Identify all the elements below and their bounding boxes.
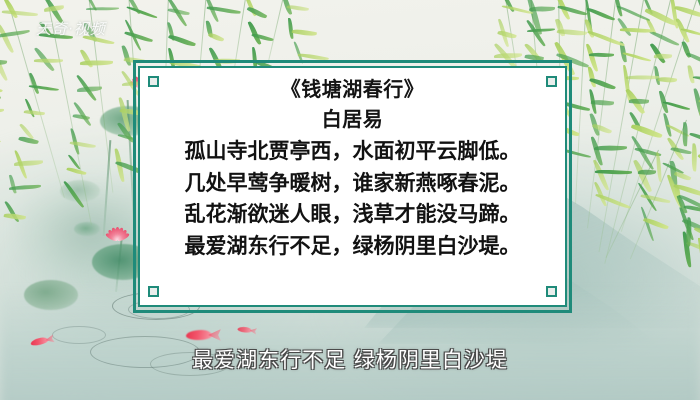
willow-leaf-icon xyxy=(43,5,64,11)
willow-leaf-icon xyxy=(556,0,571,21)
lotus-pad-icon xyxy=(60,180,100,202)
willow-leaf-icon xyxy=(288,18,293,39)
lotus-petal xyxy=(115,227,124,241)
willow-leaf-icon xyxy=(0,23,14,54)
willow-leaf-icon xyxy=(244,0,256,17)
willow-leaf-icon xyxy=(685,217,692,246)
lotus-petal xyxy=(115,227,120,240)
willow-leaf-icon xyxy=(658,76,677,84)
willow-leaf-icon xyxy=(585,19,595,39)
willow-leaf-icon xyxy=(631,122,663,139)
willow-leaf-icon xyxy=(557,4,587,17)
poem-line: 乱花渐欲迷人眼，浅草才能没马蹄。 xyxy=(185,202,521,228)
willow-leaf-icon xyxy=(643,217,669,231)
lotus-pad-icon xyxy=(24,280,78,310)
willow-leaf-icon xyxy=(694,226,700,248)
willow-leaf-icon xyxy=(592,159,609,192)
willow-leaf-icon xyxy=(70,128,80,156)
willow-leaf-icon xyxy=(690,131,700,146)
poem-author: 白居易 xyxy=(322,108,384,130)
willow-leaf-icon xyxy=(620,27,654,33)
lotus-petal xyxy=(106,229,118,242)
corner-ornament-top-left xyxy=(148,76,159,87)
willow-leaf-icon xyxy=(589,52,614,58)
willow-leaf-icon xyxy=(529,6,555,12)
willow-leaf-icon xyxy=(646,19,656,36)
willow-leaf-icon xyxy=(125,31,154,44)
willow-leaf-icon xyxy=(691,144,697,172)
willow-leaf-icon xyxy=(632,135,655,171)
willow-leaf-icon xyxy=(248,20,262,45)
willow-leaf-icon xyxy=(9,185,41,190)
willow-leaf-icon xyxy=(29,72,39,94)
willow-leaf-icon xyxy=(526,18,546,47)
willow-leaf-icon xyxy=(614,0,622,17)
willow-leaf-icon xyxy=(494,53,522,59)
willow-leaf-icon xyxy=(662,161,684,175)
willow-leaf-icon xyxy=(502,0,514,13)
willow-leaf-icon xyxy=(64,180,85,209)
willow-leaf-icon xyxy=(626,75,659,80)
willow-leaf-icon xyxy=(86,7,119,11)
willow-leaf-icon xyxy=(3,212,26,221)
willow-leaf-icon xyxy=(4,200,19,223)
willow-leaf-icon xyxy=(677,195,688,214)
poem-body: 孤山寺北贾亭西，水面初平云脚低。 几处早莺争暖树，谁家新燕啄春泥。 乱花渐欲迷人… xyxy=(140,139,565,259)
willow-leaf-icon xyxy=(502,4,534,16)
poem-title: 《钱塘湖春行》 xyxy=(281,78,425,100)
willow-leaf-icon xyxy=(80,60,113,66)
lotus-petal xyxy=(110,227,119,241)
willow-leaf-icon xyxy=(650,42,666,64)
willow-leaf-icon xyxy=(117,121,135,144)
willow-leaf-icon xyxy=(66,166,86,176)
willow-leaf-icon xyxy=(683,231,692,267)
willow-leaf-icon xyxy=(28,84,58,92)
willow-leaf-icon xyxy=(204,0,219,23)
willow-leaf-icon xyxy=(687,65,694,84)
willow-leaf-icon xyxy=(670,161,677,186)
willow-leaf-icon xyxy=(0,30,30,38)
willow-leaf-icon xyxy=(23,109,44,116)
willow-leaf-icon xyxy=(252,32,275,43)
video-frame: 天奇·视频 《钱塘湖春行》 白居易 孤山寺北贾亭西，水面初平云脚低。 几处早莺争… xyxy=(0,0,700,400)
willow-leaf-icon xyxy=(682,41,691,59)
willow-leaf-icon xyxy=(692,75,700,83)
willow-leaf-icon xyxy=(0,108,4,113)
willow-leaf-icon xyxy=(592,122,612,135)
video-subtitle: 最爱湖东行不足 绿杨阴里白沙堤 xyxy=(0,344,700,374)
willow-branch-stem xyxy=(621,0,700,232)
corner-ornament-top-right xyxy=(546,76,557,87)
willow-leaf-icon xyxy=(686,51,700,65)
willow-leaf-icon xyxy=(590,112,600,135)
willow-leaf-icon xyxy=(676,17,690,43)
lotus-pad-icon xyxy=(74,222,100,236)
willow-leaf-icon xyxy=(4,0,18,19)
willow-branch-stem xyxy=(575,0,587,204)
willow-leaf-icon xyxy=(670,0,678,29)
willow-leaf-icon xyxy=(634,159,653,194)
willow-leaf-icon xyxy=(596,192,632,210)
willow-leaf-icon xyxy=(649,29,679,47)
willow-leaf-icon xyxy=(73,101,91,127)
willow-leaf-icon xyxy=(0,48,8,83)
willow-branch-stem xyxy=(605,150,659,258)
willow-leaf-icon xyxy=(497,29,516,40)
willow-leaf-icon xyxy=(674,4,700,19)
willow-leaf-icon xyxy=(14,160,43,166)
willow-leaf-icon xyxy=(282,0,293,15)
lotus-stem xyxy=(103,140,111,236)
willow-leaf-icon xyxy=(670,147,691,156)
willow-branch-stem xyxy=(604,0,673,264)
water-ripple xyxy=(52,326,106,344)
willow-branch-stem xyxy=(630,120,687,260)
willow-leaf-icon xyxy=(654,53,672,60)
willow-leaf-icon xyxy=(683,122,689,146)
willow-leaf-icon xyxy=(595,169,632,175)
willow-leaf-icon xyxy=(34,46,55,73)
willow-leaf-icon xyxy=(20,123,34,140)
willow-leaf-icon xyxy=(658,90,668,114)
willow-leaf-icon xyxy=(675,184,681,202)
lotus-petal xyxy=(115,229,127,242)
willow-leaf-icon xyxy=(619,41,626,62)
willow-leaf-icon xyxy=(594,145,627,152)
willow-leaf-icon xyxy=(168,33,196,48)
corner-ornament-bottom-left xyxy=(148,286,159,297)
willow-leaf-icon xyxy=(666,173,682,208)
willow-leaf-icon xyxy=(674,170,691,181)
willow-leaf-icon xyxy=(629,98,649,104)
willow-leaf-icon xyxy=(70,140,97,149)
willow-leaf-icon xyxy=(527,0,542,35)
willow-leaf-icon xyxy=(662,100,690,112)
willow-leaf-icon xyxy=(623,51,652,63)
willow-leaf-icon xyxy=(166,0,187,27)
willow-leaf-icon xyxy=(679,206,694,241)
willow-leaf-icon xyxy=(115,148,125,183)
willow-leaf-icon xyxy=(206,21,214,38)
willow-leaf-icon xyxy=(498,18,509,47)
willow-leaf-icon xyxy=(643,0,653,15)
willow-leaf-icon xyxy=(638,169,656,176)
willow-leaf-icon xyxy=(168,7,190,16)
willow-leaf-icon xyxy=(682,217,700,235)
willow-leaf-icon xyxy=(594,182,607,208)
willow-leaf-icon xyxy=(654,66,660,85)
willow-leaf-icon xyxy=(167,22,175,42)
lotus-petal xyxy=(116,232,130,242)
willow-leaf-icon xyxy=(587,66,596,87)
poem-line: 几处早莺争暖树，谁家新燕啄春泥。 xyxy=(185,171,521,197)
willow-leaf-icon xyxy=(125,19,142,51)
willow-leaf-icon xyxy=(555,18,565,37)
willow-leaf-icon xyxy=(625,88,645,116)
channel-watermark: 天奇·视频 xyxy=(36,18,106,39)
willow-leaf-icon xyxy=(24,98,34,118)
willow-leaf-icon xyxy=(292,28,318,37)
willow-leaf-icon xyxy=(247,6,267,20)
willow-leaf-icon xyxy=(126,0,140,15)
lotus-petal xyxy=(104,232,118,242)
willow-leaf-icon xyxy=(557,28,588,37)
willow-leaf-icon xyxy=(208,32,225,44)
willow-leaf-icon xyxy=(0,135,1,144)
poem-line: 最爱湖东行不足，绿杨阴里白沙堤。 xyxy=(185,234,521,260)
poem-card: 《钱塘湖春行》 白居易 孤山寺北贾亭西，水面初平云脚低。 几处早莺争暖树，谁家新… xyxy=(138,66,567,307)
willow-leaf-icon xyxy=(684,204,700,213)
willow-leaf-icon xyxy=(0,59,7,66)
willow-leaf-icon xyxy=(2,9,38,17)
willow-leaf-icon xyxy=(623,65,631,103)
willow-leaf-icon xyxy=(14,149,27,179)
willow-leaf-icon xyxy=(656,152,662,182)
lotus-flower-icon xyxy=(106,222,128,240)
willow-leaf-icon xyxy=(645,6,678,27)
willow-leaf-icon xyxy=(0,84,2,94)
willow-leaf-icon xyxy=(18,135,39,145)
willow-leaf-icon xyxy=(77,74,97,102)
willow-leaf-icon xyxy=(584,0,592,34)
willow-leaf-icon xyxy=(617,4,651,22)
willow-branch-stem xyxy=(599,0,646,252)
willow-leaf-icon xyxy=(127,5,158,19)
willow-leaf-icon xyxy=(586,6,615,22)
willow-leaf-icon xyxy=(678,194,700,213)
willow-leaf-icon xyxy=(527,29,555,33)
lotus-stem xyxy=(115,236,122,292)
willow-leaf-icon xyxy=(640,193,670,204)
willow-leaf-icon xyxy=(33,58,62,63)
willow-leaf-icon xyxy=(629,111,642,132)
willow-leaf-icon xyxy=(666,123,689,138)
willow-leaf-icon xyxy=(673,182,700,199)
willow-leaf-icon xyxy=(663,113,672,137)
willow-leaf-icon xyxy=(693,88,700,121)
willow-leaf-icon xyxy=(680,27,700,37)
willow-leaf-icon xyxy=(79,48,93,69)
willow-leaf-icon xyxy=(119,96,131,131)
willow-leaf-icon xyxy=(589,76,616,92)
willow-leaf-icon xyxy=(634,146,661,158)
willow-leaf-icon xyxy=(0,73,2,101)
willow-leaf-icon xyxy=(617,17,631,37)
willow-leaf-icon xyxy=(591,136,604,166)
willow-leaf-icon xyxy=(667,136,684,161)
willow-leaf-icon xyxy=(122,45,132,67)
willow-branch-stem xyxy=(587,0,617,228)
willow-leaf-icon xyxy=(9,175,16,194)
willow-leaf-icon xyxy=(67,154,80,171)
willow-leaf-icon xyxy=(640,206,654,242)
willow-leaf-icon xyxy=(207,5,241,15)
corner-ornament-bottom-right xyxy=(546,286,557,297)
willow-leaf-icon xyxy=(589,89,597,114)
willow-leaf-icon xyxy=(286,4,308,12)
willow-leaf-icon xyxy=(687,240,700,255)
willow-leaf-icon xyxy=(586,43,599,73)
willow-leaf-icon xyxy=(77,86,102,92)
willow-leaf-icon xyxy=(638,182,658,213)
willow-leaf-icon xyxy=(591,99,614,106)
poem-line: 孤山寺北贾亭西，水面初平云脚低。 xyxy=(185,139,521,165)
willow-leaf-icon xyxy=(73,113,90,120)
willow-leaf-icon xyxy=(87,0,98,12)
willow-leaf-icon xyxy=(696,0,700,24)
willow-leaf-icon xyxy=(587,29,624,47)
